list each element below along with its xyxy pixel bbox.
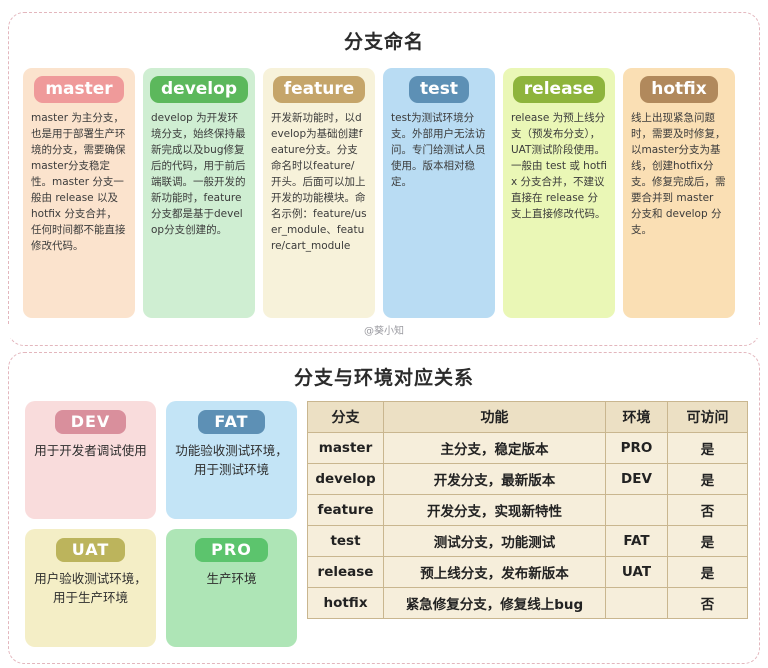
environment-card-DEV: DEV用于开发者调试使用 bbox=[25, 401, 156, 519]
table-cell-access: 否 bbox=[668, 495, 748, 526]
table-header-cell: 分支 bbox=[308, 402, 384, 433]
table-row: master主分支，稳定版本PRO是 bbox=[308, 433, 748, 464]
environment-chip-DEV: DEV bbox=[55, 410, 127, 434]
branch-card-master: mastermaster 为主分支，也是用于部署生产环境的分支，需要确保mast… bbox=[23, 68, 135, 318]
branch-description-master: master 为主分支，也是用于部署生产环境的分支，需要确保master分支稳定… bbox=[29, 111, 129, 255]
branch-description-hotfix: 线上出现紧急问题时，需要及时修复，以master分支为基线，创建hotfix分支… bbox=[629, 111, 729, 239]
branch-card-feature: feature开发新功能时，以develop为基础创建feature分支。分支命… bbox=[263, 68, 375, 318]
table-cell-environment: DEV bbox=[606, 464, 668, 495]
table-cell-environment: FAT bbox=[606, 526, 668, 557]
table-row: test测试分支，功能测试FAT是 bbox=[308, 526, 748, 557]
table-cell-branch: release bbox=[308, 557, 384, 588]
table-cell-function: 预上线分支，发布新版本 bbox=[384, 557, 606, 588]
branch-chip-hotfix: hotfix bbox=[640, 76, 717, 103]
environment-description-FAT: 功能验收测试环境，用于测试环境 bbox=[174, 441, 289, 480]
table-cell-function: 紧急修复分支，修复线上bug bbox=[384, 588, 606, 619]
table-cell-access: 是 bbox=[668, 526, 748, 557]
table-cell-branch: feature bbox=[308, 495, 384, 526]
page-title: 分支命名 bbox=[9, 27, 759, 54]
branch-chip-release: release bbox=[513, 76, 605, 103]
branch-chip-master: master bbox=[34, 76, 123, 103]
environment-description-DEV: 用于开发者调试使用 bbox=[34, 441, 147, 460]
branch-card-list: mastermaster 为主分支，也是用于部署生产环境的分支，需要确保mast… bbox=[23, 68, 747, 318]
environment-chip-FAT: FAT bbox=[198, 410, 264, 434]
environment-card-FAT: FAT功能验收测试环境，用于测试环境 bbox=[166, 401, 297, 519]
table-header-cell: 可访问 bbox=[668, 402, 748, 433]
table-cell-function: 测试分支，功能测试 bbox=[384, 526, 606, 557]
branch-card-develop: developdevelop 为开发环境分支，始终保持最新完成以及bug修复后的… bbox=[143, 68, 255, 318]
table-cell-environment: UAT bbox=[606, 557, 668, 588]
table-row: develop开发分支，最新版本DEV是 bbox=[308, 464, 748, 495]
table-cell-access: 是 bbox=[668, 464, 748, 495]
branch-description-test: test为测试环境分支。外部用户无法访问。专门给测试人员使用。版本相对稳定。 bbox=[389, 111, 489, 191]
branch-chip-develop: develop bbox=[150, 76, 248, 103]
branch-chip-feature: feature bbox=[273, 76, 366, 103]
table-cell-access: 是 bbox=[668, 557, 748, 588]
table-cell-environment: PRO bbox=[606, 433, 668, 464]
branch-card-release: releaserelease 为预上线分支（预发布分支），UAT测试阶段使用。一… bbox=[503, 68, 615, 318]
environment-chip-UAT: UAT bbox=[56, 538, 126, 562]
branch-environment-table-wrapper: 分支功能环境可访问master主分支，稳定版本PRO是develop开发分支，最… bbox=[307, 401, 747, 619]
branch-naming-panel: 分支命名 mastermaster 为主分支，也是用于部署生产环境的分支，需要确… bbox=[8, 12, 760, 346]
table-cell-branch: test bbox=[308, 526, 384, 557]
table-cell-branch: master bbox=[308, 433, 384, 464]
table-row: hotfix紧急修复分支，修复线上bug否 bbox=[308, 588, 748, 619]
table-header-cell: 环境 bbox=[606, 402, 668, 433]
table-cell-access: 否 bbox=[668, 588, 748, 619]
environment-chip-PRO: PRO bbox=[195, 538, 268, 562]
table-cell-access: 是 bbox=[668, 433, 748, 464]
table-header-cell: 功能 bbox=[384, 402, 606, 433]
watermark-text: @葵小知 bbox=[358, 326, 410, 337]
branch-chip-test: test bbox=[409, 76, 469, 103]
table-row: feature开发分支，实现新特性否 bbox=[308, 495, 748, 526]
table-row: release预上线分支，发布新版本UAT是 bbox=[308, 557, 748, 588]
branch-card-test: testtest为测试环境分支。外部用户无法访问。专门给测试人员使用。版本相对稳… bbox=[383, 68, 495, 318]
table-header-row: 分支功能环境可访问 bbox=[308, 402, 748, 433]
table-cell-function: 开发分支，实现新特性 bbox=[384, 495, 606, 526]
watermark: @葵小知 bbox=[0, 326, 768, 338]
environment-card-UAT: UAT用户验收测试环境，用于生产环境 bbox=[25, 529, 156, 647]
environment-description-PRO: 生产环境 bbox=[206, 569, 256, 588]
environment-card-list: DEV用于开发者调试使用FAT功能验收测试环境，用于测试环境UAT用户验收测试环… bbox=[25, 401, 297, 647]
section-title: 分支与环境对应关系 bbox=[9, 363, 759, 390]
table-cell-function: 开发分支，最新版本 bbox=[384, 464, 606, 495]
branch-environment-panel: 分支与环境对应关系 DEV用于开发者调试使用FAT功能验收测试环境，用于测试环境… bbox=[8, 352, 760, 664]
table-cell-branch: hotfix bbox=[308, 588, 384, 619]
branch-card-hotfix: hotfix线上出现紧急问题时，需要及时修复，以master分支为基线，创建ho… bbox=[623, 68, 735, 318]
branch-description-feature: 开发新功能时，以develop为基础创建feature分支。分支命名时以feat… bbox=[269, 111, 369, 255]
environment-card-PRO: PRO生产环境 bbox=[166, 529, 297, 647]
environment-description-UAT: 用户验收测试环境，用于生产环境 bbox=[33, 569, 148, 608]
table-cell-environment bbox=[606, 588, 668, 619]
branch-description-develop: develop 为开发环境分支，始终保持最新完成以及bug修复后的代码，用于前后… bbox=[149, 111, 249, 239]
table-cell-function: 主分支，稳定版本 bbox=[384, 433, 606, 464]
table-cell-branch: develop bbox=[308, 464, 384, 495]
branch-environment-table: 分支功能环境可访问master主分支，稳定版本PRO是develop开发分支，最… bbox=[307, 401, 748, 619]
table-cell-environment bbox=[606, 495, 668, 526]
branch-description-release: release 为预上线分支（预发布分支），UAT测试阶段使用。一般由 test… bbox=[509, 111, 609, 223]
